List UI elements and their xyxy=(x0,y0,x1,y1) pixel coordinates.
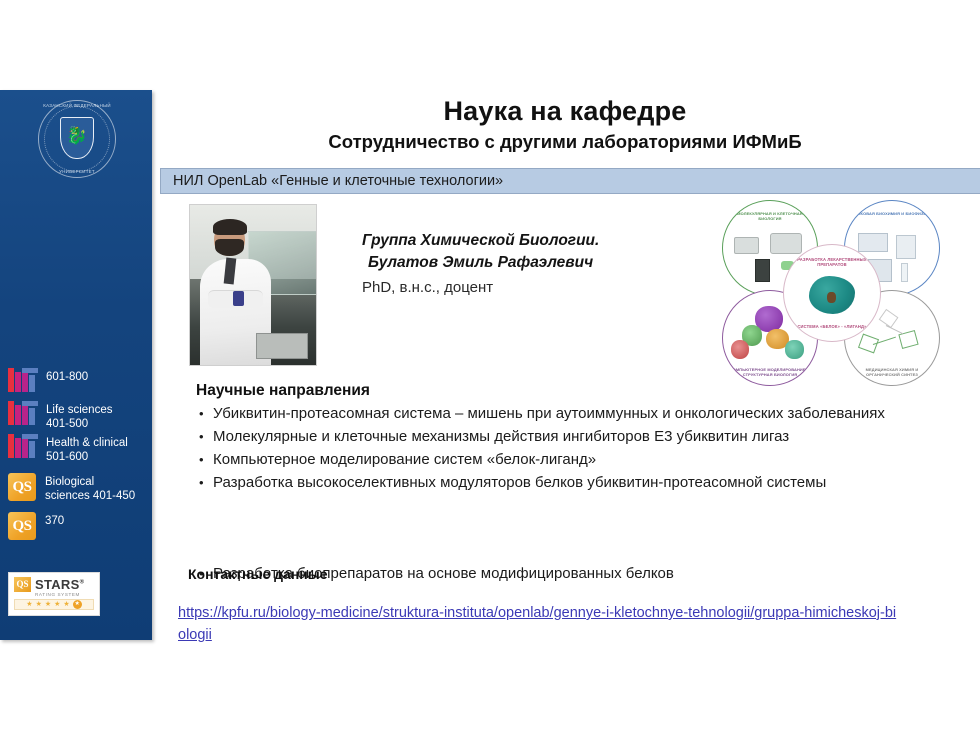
ranking-line1: Biological xyxy=(45,476,94,488)
star-icon-highlighted: ★ xyxy=(73,600,82,609)
diagram-molecule-red xyxy=(731,340,750,359)
person-name: Булатов Эмиль Рафаэлевич xyxy=(362,252,692,274)
diagram-vial-icon xyxy=(901,263,908,282)
research-areas-diagram: МОЛЕКУЛЯРНАЯ И КЛЕТОЧНАЯ БИОЛОГИЯ БЕЛКОВ… xyxy=(712,198,952,388)
bullet-icon: • xyxy=(199,472,204,494)
direction-item-text: Разработка высокоселективных модуляторов… xyxy=(213,474,826,491)
star-icon: ★ xyxy=(36,601,42,608)
qs-mark-icon: QS xyxy=(14,577,31,592)
the-logo-icon xyxy=(8,434,38,458)
diagram-microscope-icon xyxy=(755,259,770,282)
direction-item-text: Убиквитин-протеасомная система – мишень … xyxy=(213,405,885,422)
ranking-row-qs-overall: QS 370 xyxy=(8,512,152,540)
direction-item: • Молекулярные и клеточные механизмы дей… xyxy=(196,426,906,448)
bullet-icon: • xyxy=(199,426,204,448)
page-subtitle: Сотрудничество с другими лабораториями И… xyxy=(160,131,970,153)
ranking-line1: Life sciences xyxy=(46,404,112,416)
qs-stars-rating-strip: ★ ★ ★ ★ ★ ★ xyxy=(14,599,94,610)
logo-arc-top-text: КАЗАНСКИЙ ФЕДЕРАЛЬНЫЙ xyxy=(38,103,116,108)
diagram-chem-bond xyxy=(886,325,903,334)
ranking-row-qs-biological: QS Biological sciences 401-450 xyxy=(8,473,152,503)
ranking-row-the-life-sciences: Life sciences 401-500 xyxy=(8,401,152,431)
ranking-line1: 370 xyxy=(45,515,64,527)
diagram-center-bottom-label: СИСТЕМА «БЕЛОК» - «ЛИГАНД» xyxy=(790,324,874,329)
logo-winged-beast-icon: 🐉 xyxy=(66,125,88,147)
direction-item: • Убиквитин-протеасомная система – мишен… xyxy=(196,403,906,425)
person-info: Группа Химической Биологии. Булатов Эмил… xyxy=(362,230,692,296)
research-directions: Научные направления • Убиквитин-протеасо… xyxy=(196,382,906,495)
rankings-list: 601-800 Life sciences 401-500 Health & c… xyxy=(8,368,152,543)
qs-stars-trademark: ® xyxy=(80,580,85,586)
diagram-circle-label: МЕДИЦИНСКАЯ ХИМИЯ И ОРГАНИЧЕСКИЙ СИНТЕЗ xyxy=(851,367,934,377)
qs-stars-word-text: STARS xyxy=(35,577,80,592)
contacts-heading: Контактные данные xyxy=(188,566,327,582)
ranking-row-the-health-clinical: Health & clinical 501-600 xyxy=(8,434,152,464)
direction-item: • Разработка высокоселективных модулятор… xyxy=(196,472,906,494)
ranking-line1: Health & clinical xyxy=(46,437,128,449)
title-block: Наука на кафедре Сотрудничество с другим… xyxy=(160,96,970,153)
person-photo xyxy=(189,204,317,366)
ranking-text: 370 xyxy=(45,512,64,528)
qs-logo-icon: QS xyxy=(8,512,36,540)
the-logo-icon xyxy=(8,368,38,392)
diagram-circle-drug-development: РАЗРАБОТКА ЛЕКАРСТВЕННЫХ ПРЕПАРАТОВ СИСТ… xyxy=(783,244,881,342)
logo-shield-icon: 🐉 xyxy=(60,117,94,159)
diagram-circle-label: БЕЛКОВАЯ БИОХИМИЯ И БИОФИЗИКА xyxy=(851,211,934,216)
diagram-circle-label: МОЛЕКУЛЯРНАЯ И КЛЕТОЧНАЯ БИОЛОГИЯ xyxy=(729,211,812,221)
ranking-text: Life sciences 401-500 xyxy=(46,401,112,431)
qs-stars-badge: QS STARS® RATING SYSTEM ★ ★ ★ ★ ★ ★ xyxy=(8,572,100,616)
star-icon: ★ xyxy=(63,601,69,608)
photo-wrist-band xyxy=(233,291,244,305)
ranking-text: 601-800 xyxy=(46,368,88,384)
photo-hair xyxy=(213,219,247,235)
diagram-protein-structure-icon xyxy=(809,276,855,314)
research-group-name: Группа Химической Биологии. xyxy=(362,230,692,252)
direction-item-text: Молекулярные и клеточные механизмы дейст… xyxy=(213,428,789,445)
ranking-line2: 501-600 xyxy=(46,450,128,464)
ranking-row-the-overall: 601-800 xyxy=(8,368,152,392)
logo-arc-bottom-text: УНИВЕРСИТЕТ xyxy=(38,169,116,174)
qs-stars-header: QS STARS® xyxy=(14,577,94,592)
ranking-line2: 401-500 xyxy=(46,417,112,431)
the-logo-icon xyxy=(8,401,38,425)
star-icon: ★ xyxy=(45,601,51,608)
kfu-logo: КАЗАНСКИЙ ФЕДЕРАЛЬНЫЙ УНИВЕРСИТЕТ 🐉 xyxy=(38,100,116,178)
bullet-icon: • xyxy=(199,449,204,471)
qs-stars-subtitle: RATING SYSTEM xyxy=(35,592,94,597)
diagram-instrument-icon xyxy=(858,233,888,252)
lab-banner: НИЛ OpenLab «Генные и клеточные технолог… xyxy=(160,168,980,194)
diagram-molecule-teal xyxy=(785,340,804,359)
photo-equipment-tray xyxy=(256,333,309,359)
bullet-icon: • xyxy=(199,403,204,425)
directions-heading: Научные направления xyxy=(196,382,906,400)
ranking-line1: 601-800 xyxy=(46,371,88,383)
star-icon: ★ xyxy=(54,601,60,608)
diagram-circle-label: КОМПЬЮТЕРНОЕ МОДЕЛИРОВАНИЕ И СТРУКТУРНАЯ… xyxy=(729,367,812,377)
direction-item-text: Компьютерное моделирование систем «белок… xyxy=(213,451,596,468)
university-sidebar: КАЗАНСКИЙ ФЕДЕРАЛЬНЫЙ УНИВЕРСИТЕТ 🐉 601-… xyxy=(0,90,152,640)
qs-stars-word: STARS® xyxy=(35,577,84,592)
diagram-center-top-label: РАЗРАБОТКА ЛЕКАРСТВЕННЫХ ПРЕПАРАТОВ xyxy=(790,257,874,267)
star-icon: ★ xyxy=(26,601,32,608)
person-role: PhD, в.н.с., доцент xyxy=(362,279,692,296)
ranking-line2: sciences 401-450 xyxy=(45,489,135,503)
direction-item: • Компьютерное моделирование систем «бел… xyxy=(196,449,906,471)
diagram-instrument-icon xyxy=(770,233,802,254)
diagram-instrument-icon xyxy=(734,237,758,254)
diagram-instrument-icon xyxy=(896,235,917,259)
ranking-text: Biological sciences 401-450 xyxy=(45,473,135,503)
page-title: Наука на кафедре xyxy=(160,96,970,127)
ranking-text: Health & clinical 501-600 xyxy=(46,434,128,464)
group-webpage-link[interactable]: https://kpfu.ru/biology-medicine/struktu… xyxy=(178,602,898,646)
qs-logo-icon: QS xyxy=(8,473,36,501)
